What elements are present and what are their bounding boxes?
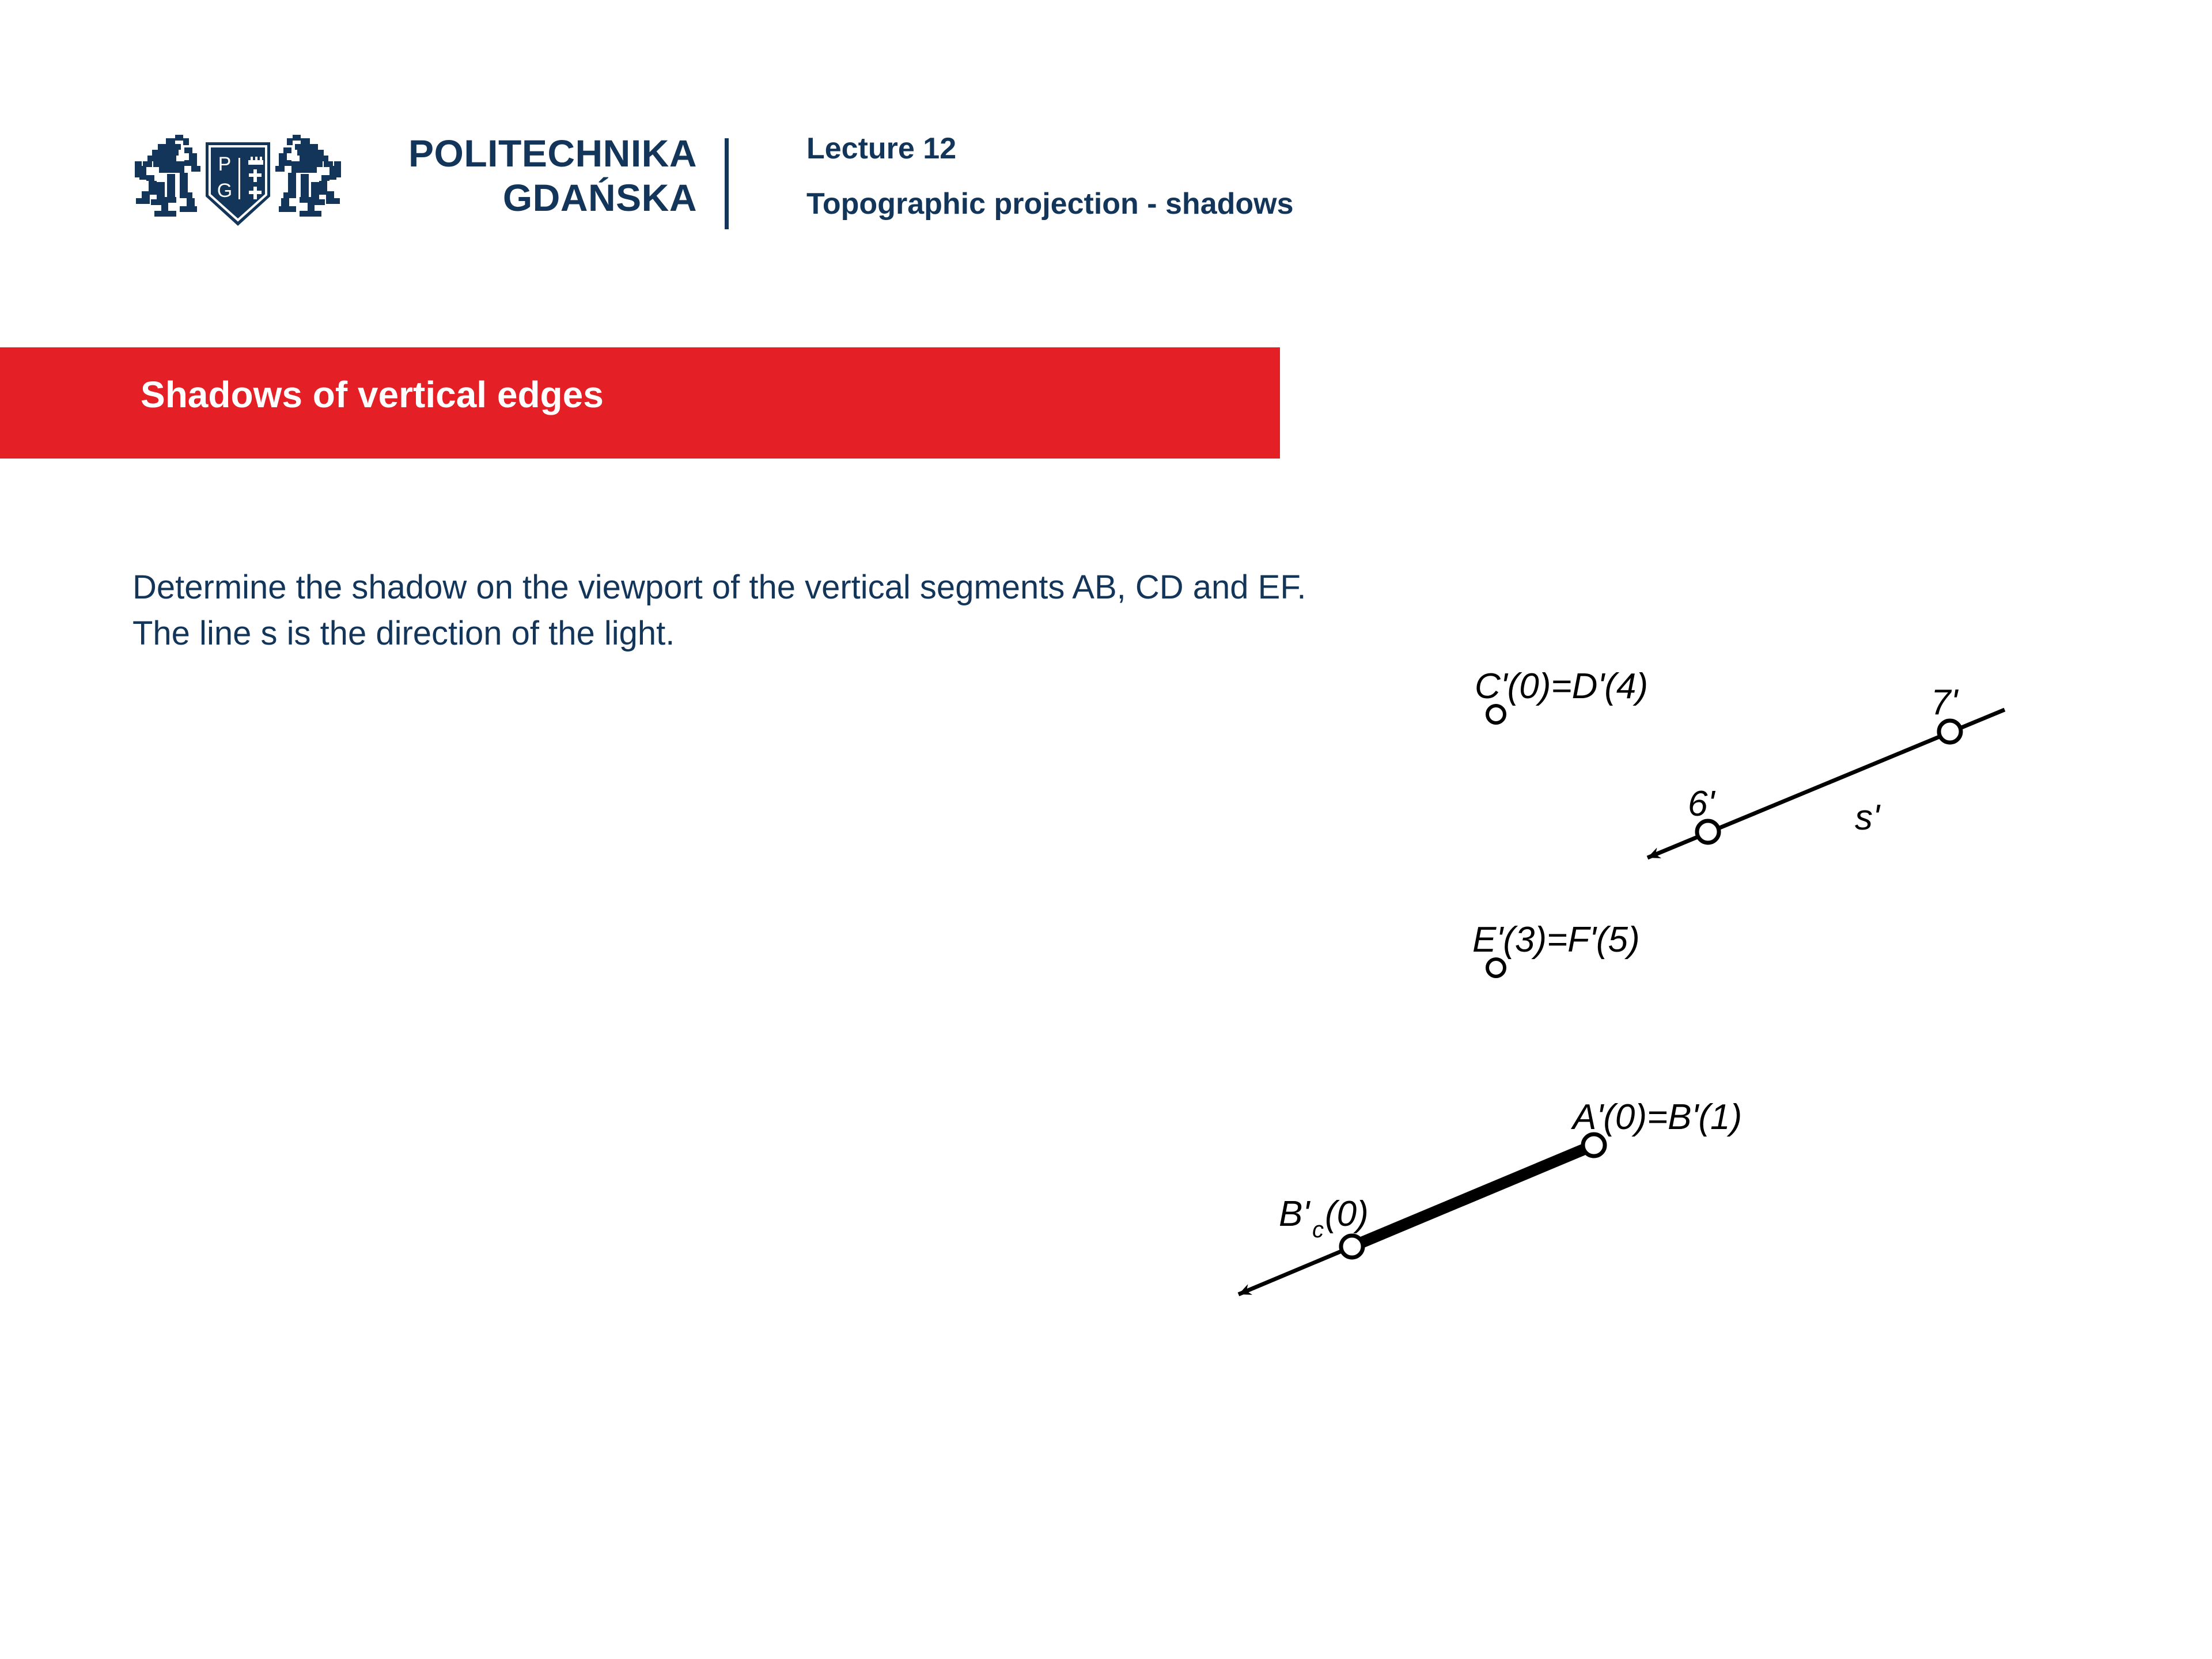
body-line-2: The line s is the direction of the light… — [132, 611, 1976, 657]
lecture-subtitle: Topographic projection - shadows — [806, 189, 1294, 219]
shadow-ray — [1238, 1145, 1594, 1294]
shadow-segment — [1352, 1145, 1594, 1247]
point-e-marker — [1487, 959, 1505, 976]
label-bc-tail: (0) — [1325, 1194, 1369, 1234]
body-line-1: Determine the shadow on the viewport of … — [132, 565, 1976, 611]
label-bc-subscript: c — [1312, 1217, 1324, 1243]
light-direction-ray — [1647, 710, 2005, 858]
logo-wordmark-line-1: POLITECHNIKA — [363, 131, 697, 176]
section-title: Shadows of vertical edges — [141, 376, 604, 413]
point-a-marker — [1583, 1134, 1605, 1156]
label-6: 6' — [1688, 784, 1715, 824]
body-paragraph: Determine the shadow on the viewport of … — [132, 565, 1976, 657]
point-7-marker — [1939, 721, 1961, 743]
logo-wordmark-line-2: GDAŃSKA — [363, 176, 697, 220]
label-7: 7' — [1931, 683, 1959, 722]
section-banner: Shadows of vertical edges — [0, 347, 1280, 459]
lecture-heading: Lecture 12 Topographic projection - shad… — [806, 134, 1294, 219]
slide-header: P G POLITECHNIKA GDAŃSKA Lecture 12 Topo… — [0, 0, 2212, 300]
label-s: s' — [1855, 798, 1881, 838]
svg-text:P: P — [218, 153, 232, 175]
politechnika-gdanska-crest-icon: P G — [131, 128, 344, 237]
logo-wordmark: POLITECHNIKA GDAŃSKA — [363, 131, 697, 219]
point-6-marker — [1697, 821, 1719, 843]
label-ab: A'(0)=B'(1) — [1570, 1097, 1742, 1137]
label-bc-base: B' — [1279, 1194, 1310, 1234]
header-divider — [725, 138, 729, 229]
svg-text:G: G — [217, 180, 232, 202]
lecture-number: Lecture 12 — [806, 134, 1294, 164]
label-ef: E'(3)=F'(5) — [1472, 920, 1640, 960]
point-c-marker — [1487, 706, 1505, 723]
point-bc-marker — [1341, 1236, 1363, 1257]
label-cd: C'(0)=D'(4) — [1475, 666, 1648, 706]
